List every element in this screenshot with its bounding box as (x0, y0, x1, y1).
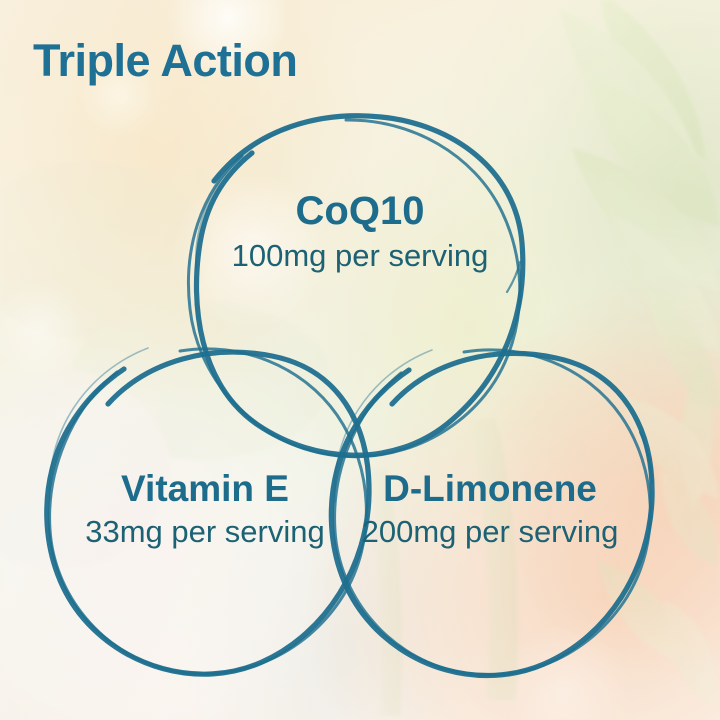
infographic-canvas: Triple Action (0, 0, 720, 720)
venn-label-d-limonene-amount: 200mg per serving (325, 515, 655, 549)
venn-label-coq10-name: CoQ10 (160, 190, 560, 232)
venn-diagram (0, 0, 720, 720)
venn-label-coq10: CoQ10 100mg per serving (160, 190, 560, 273)
venn-label-d-limonene: D-Limonene 200mg per serving (325, 470, 655, 549)
venn-label-d-limonene-name: D-Limonene (325, 470, 655, 509)
venn-label-coq10-amount: 100mg per serving (160, 239, 560, 273)
venn-circle-coq10 (188, 116, 522, 457)
